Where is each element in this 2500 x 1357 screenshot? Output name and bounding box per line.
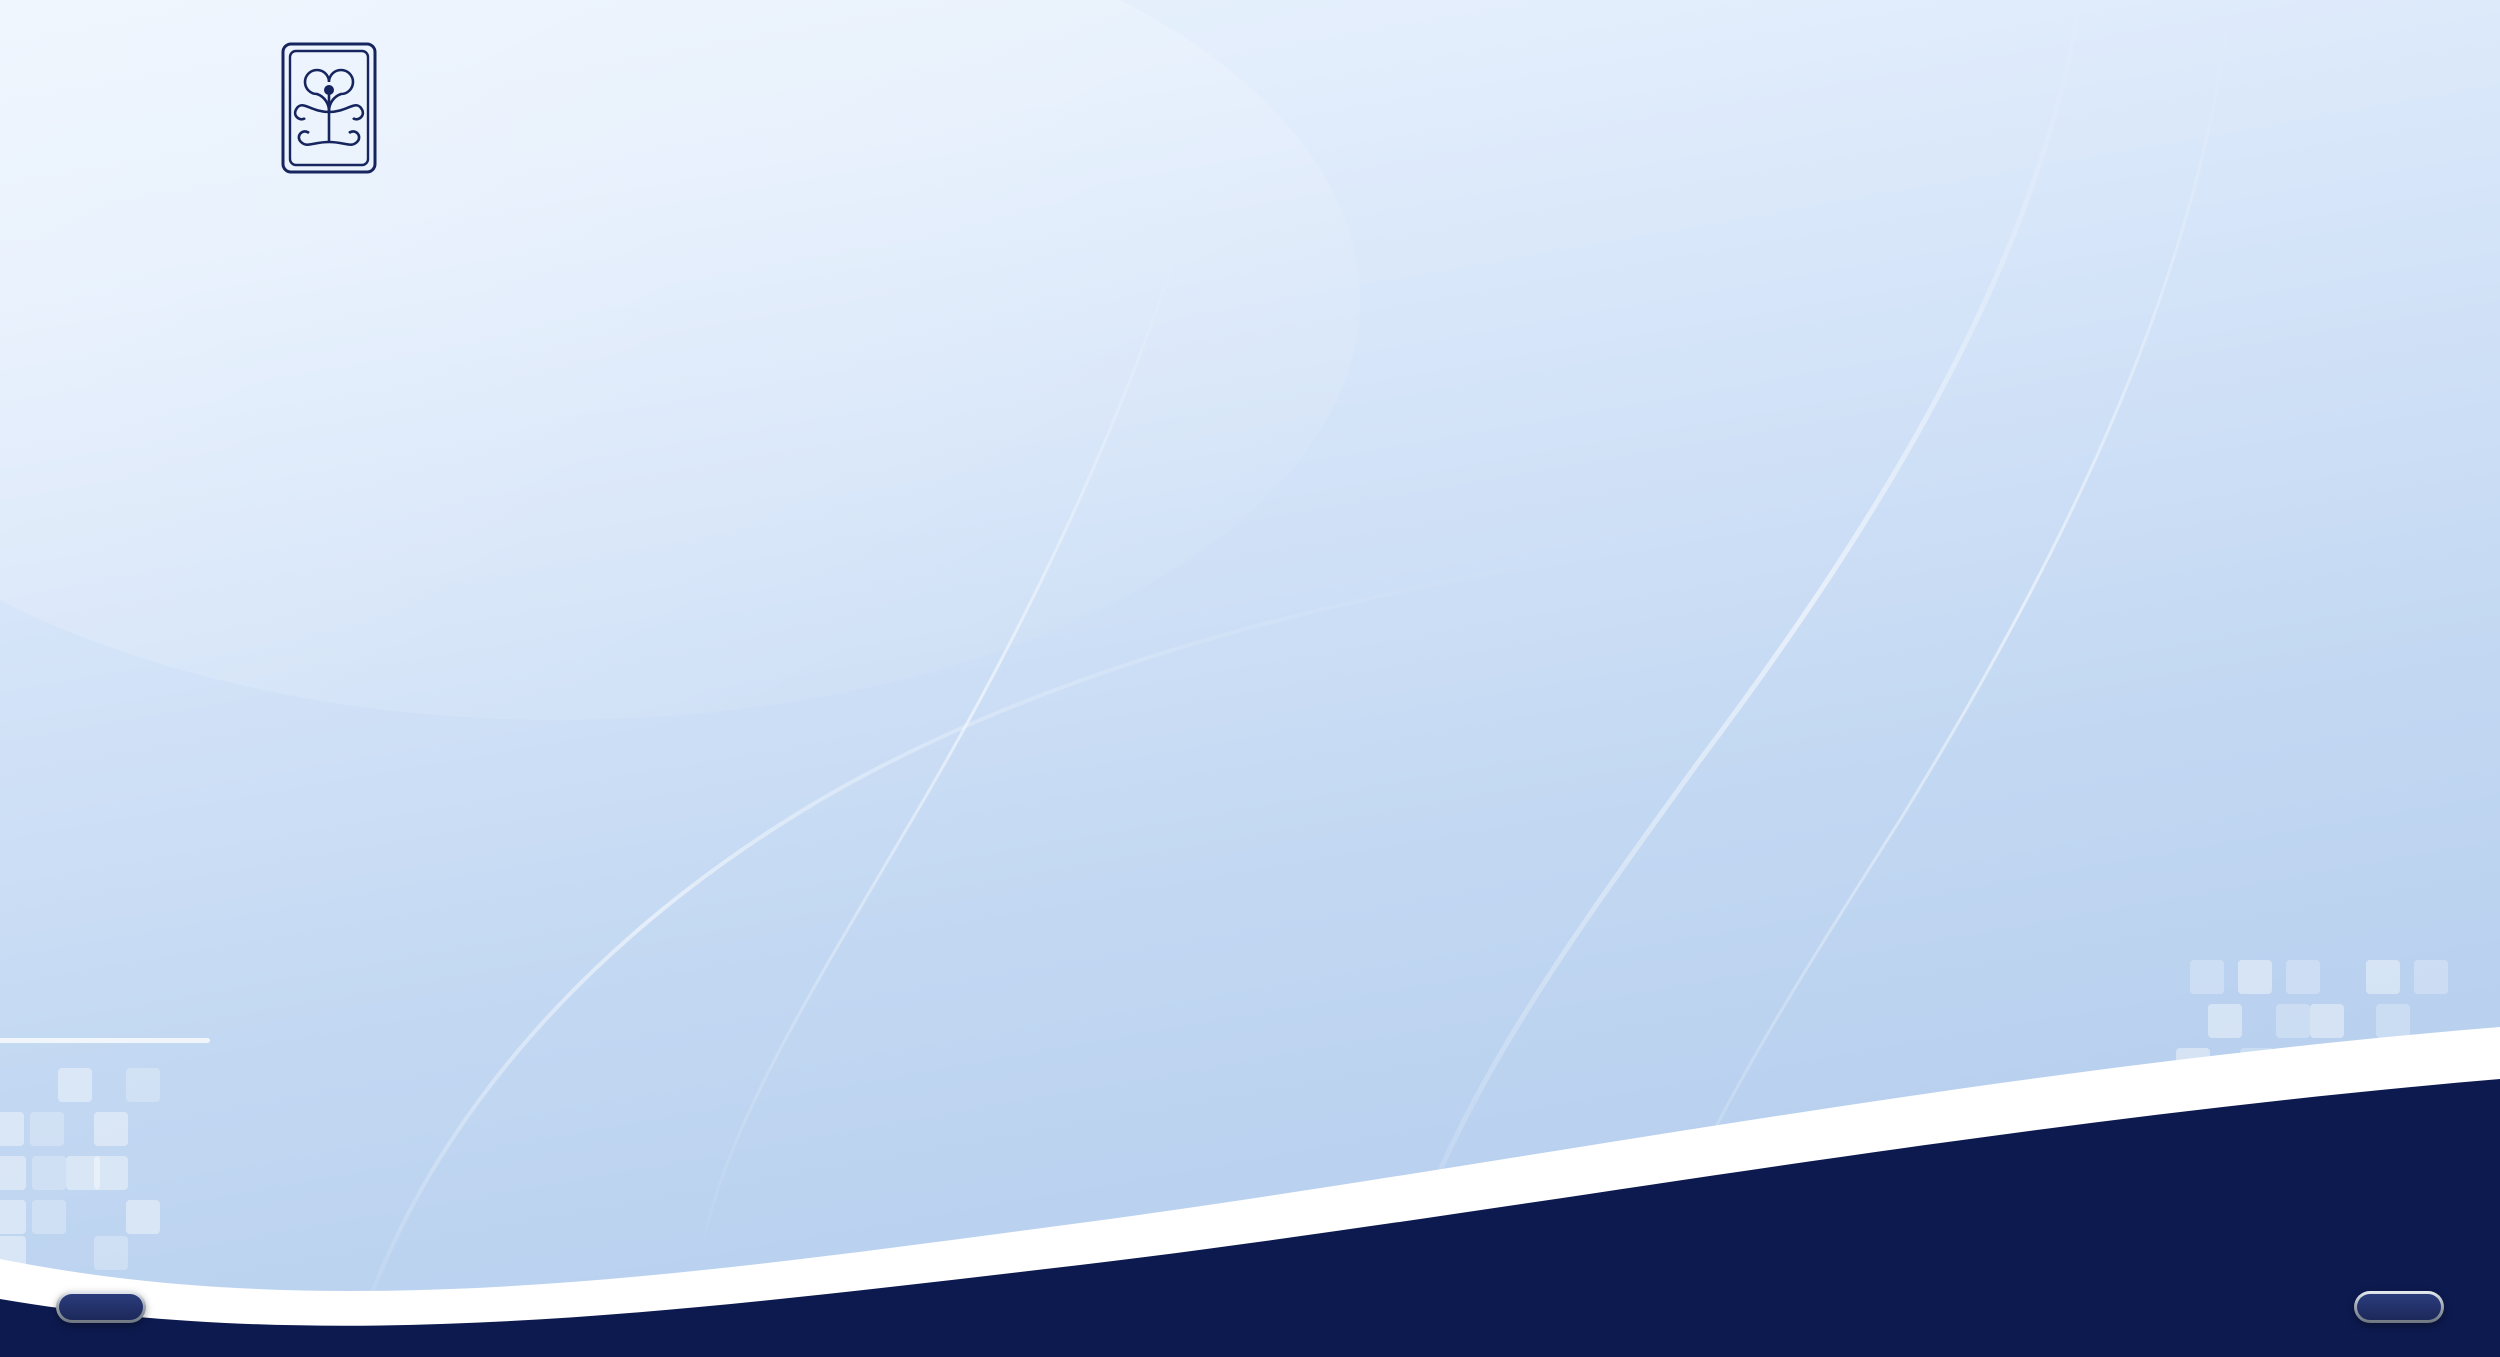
footer-navy-wave bbox=[0, 1057, 2500, 1357]
university-logo bbox=[78, 34, 548, 184]
public-relations-label[interactable] bbox=[2354, 1291, 2444, 1323]
decorative-square-grid-left bbox=[0, 1060, 310, 1300]
guilan-university-emblem-icon bbox=[78, 34, 548, 184]
website-url-button[interactable] bbox=[56, 1291, 146, 1323]
poster-canvas bbox=[0, 0, 2500, 1357]
decorative-square-grid-right bbox=[2180, 960, 2500, 1180]
footer-white-wave bbox=[0, 1027, 2500, 1357]
background-light-streaks bbox=[0, 0, 2500, 1357]
